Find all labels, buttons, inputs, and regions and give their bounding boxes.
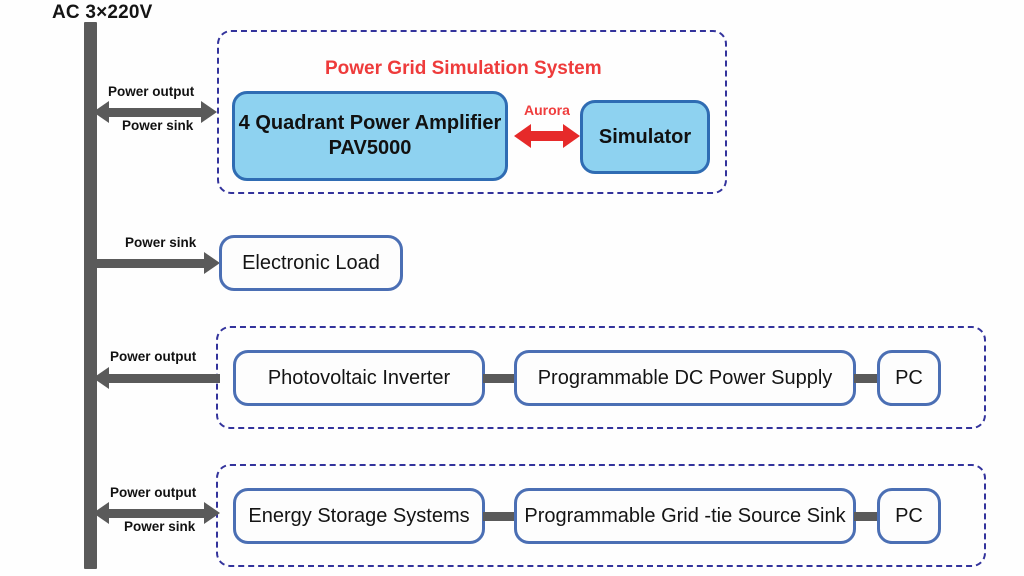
arrow-shaft — [109, 108, 201, 117]
arrow-head-left-icon — [514, 124, 531, 148]
box-label-line-1: 4 Quadrant Power Amplifier — [239, 111, 502, 136]
arrow-shaft — [531, 131, 563, 141]
arrow-head-right-icon — [201, 101, 217, 123]
box-label-line-1: Energy Storage Systems — [248, 504, 469, 529]
row2-bus-arrow — [93, 256, 220, 270]
row2-arrow-label-top: Power sink — [125, 235, 196, 250]
arrow-head-right-icon — [204, 252, 220, 274]
box-programmable-grid-tie-source-sink[interactable]: Programmable Grid -tie Source Sink — [514, 488, 856, 544]
box-label-line-1: PC — [895, 366, 923, 391]
box-pc-dc[interactable]: PC — [877, 350, 941, 406]
row4-bus-arrow — [93, 506, 220, 520]
row3-arrow-label-top: Power output — [110, 349, 196, 364]
arrow-head-left-icon — [93, 502, 109, 524]
box-4-quadrant-power-amplifier[interactable]: 4 Quadrant Power Amplifier PAV5000 — [232, 91, 508, 181]
arrow-shaft — [109, 374, 220, 383]
diagram-canvas: AC 3×220V Power Grid Simulation System P… — [0, 0, 1024, 576]
row1-bus-arrow — [93, 105, 217, 119]
group-title-power-grid-simulation-system: Power Grid Simulation System — [325, 58, 602, 80]
aurora-link-arrow — [514, 129, 580, 143]
box-label-line-1: Programmable DC Power Supply — [538, 366, 833, 391]
row1-arrow-label-bottom: Power sink — [122, 118, 193, 133]
row1-arrow-label-top: Power output — [108, 84, 194, 99]
link-inverter-to-dc-supply — [483, 374, 516, 383]
link-storage-to-grid-tie — [483, 512, 516, 521]
arrow-shaft — [93, 259, 204, 268]
box-photovoltaic-inverter[interactable]: Photovoltaic Inverter — [233, 350, 485, 406]
box-simulator[interactable]: Simulator — [580, 100, 710, 174]
box-energy-storage-systems[interactable]: Energy Storage Systems — [233, 488, 485, 544]
arrow-head-right-icon — [204, 502, 220, 524]
ac-bus-label: AC 3×220V — [52, 2, 153, 24]
box-label-line-1: Photovoltaic Inverter — [268, 366, 450, 391]
box-label-line-1: Programmable Grid -tie Source Sink — [524, 504, 845, 529]
row4-arrow-label-bottom: Power sink — [124, 519, 195, 534]
row3-bus-arrow — [93, 371, 220, 385]
arrow-head-right-icon — [563, 124, 580, 148]
box-label-line-1: Electronic Load — [242, 251, 380, 276]
arrow-head-left-icon — [93, 101, 109, 123]
link-grid-tie-to-pc — [854, 512, 879, 521]
box-electronic-load[interactable]: Electronic Load — [219, 235, 403, 291]
aurora-link-label: Aurora — [524, 102, 570, 118]
arrow-shaft — [109, 509, 204, 518]
link-dc-supply-to-pc — [854, 374, 879, 383]
box-label-line-1: Simulator — [599, 125, 691, 150]
box-pc-grid-tie[interactable]: PC — [877, 488, 941, 544]
box-label-line-2: PAV5000 — [329, 136, 412, 161]
row4-arrow-label-top: Power output — [110, 485, 196, 500]
box-programmable-dc-power-supply[interactable]: Programmable DC Power Supply — [514, 350, 856, 406]
box-label-line-1: PC — [895, 504, 923, 529]
arrow-head-left-icon — [93, 367, 109, 389]
